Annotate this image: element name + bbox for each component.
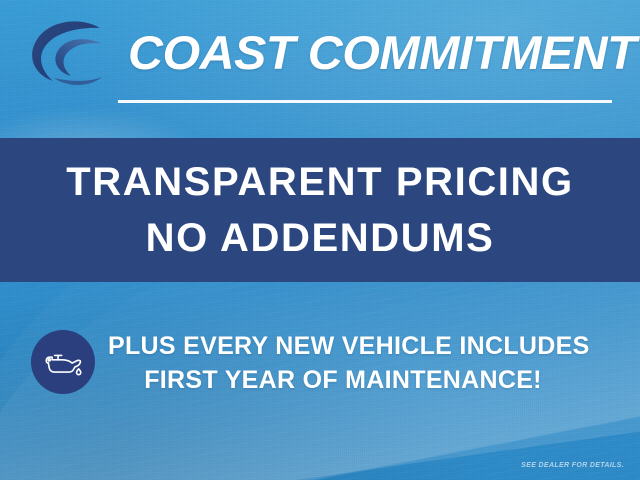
statement-line-1: TRANSPARENT PRICING <box>66 154 573 210</box>
promise-text-block: PLUS EVERY NEW VEHICLE INCLUDES FIRST YE… <box>108 329 578 397</box>
page-title: COAST COMMITMENT <box>128 24 633 82</box>
disclaimer-text: SEE DEALER FOR DETAILS. <box>521 462 624 469</box>
maintenance-promise: PLUS EVERY NEW VEHICLE INCLUDES FIRST YE… <box>0 326 640 400</box>
wave-swirl-icon <box>24 18 116 90</box>
promise-line-2: FIRST YEAR OF MAINTENANCE! <box>108 363 578 397</box>
coast-commitment-banner: COAST COMMITMENT TRANSPARENT PRICING NO … <box>0 0 640 480</box>
promise-line-1: PLUS EVERY NEW VEHICLE INCLUDES <box>108 329 578 363</box>
statement-line-2: NO ADDENDUMS <box>146 210 495 266</box>
statement-band: TRANSPARENT PRICING NO ADDENDUMS <box>0 138 640 282</box>
banner-header: COAST COMMITMENT <box>0 0 640 120</box>
oil-can-icon <box>31 330 95 394</box>
header-divider <box>118 100 612 103</box>
